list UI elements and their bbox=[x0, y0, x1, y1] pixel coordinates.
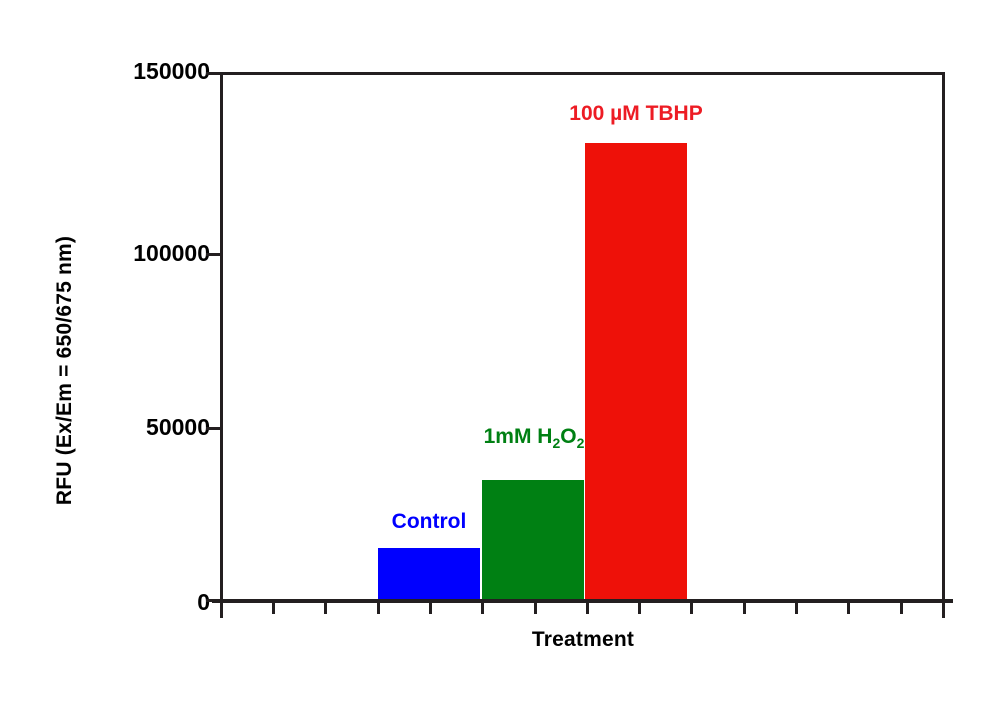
x-axis-title: Treatment bbox=[220, 628, 946, 652]
bar-label-h2o2-mid: O bbox=[560, 425, 576, 448]
x-tick-7 bbox=[586, 603, 589, 614]
y-tick-150000 bbox=[206, 72, 220, 75]
x-tick-8 bbox=[638, 603, 641, 614]
x-tick-2 bbox=[324, 603, 327, 614]
y-tick-label-50000: 50000 bbox=[60, 414, 210, 441]
x-tick-6 bbox=[534, 603, 537, 614]
y-tick-0 bbox=[206, 599, 220, 602]
x-tick-14 bbox=[942, 603, 945, 618]
bar-tbhp bbox=[585, 143, 687, 599]
bar-label-h2o2-sub2: 2 bbox=[577, 435, 585, 451]
bar-label-tbhp: 100 µM TBHP bbox=[536, 102, 736, 126]
x-tick-10 bbox=[743, 603, 746, 614]
x-tick-11 bbox=[795, 603, 798, 614]
axis-frame-top bbox=[220, 72, 945, 75]
axis-frame-right bbox=[942, 72, 945, 602]
y-tick-100000 bbox=[206, 253, 220, 256]
x-tick-1 bbox=[272, 603, 275, 614]
y-tick-50000 bbox=[206, 427, 220, 430]
y-tick-label-150000: 150000 bbox=[60, 58, 210, 85]
plot-area: Control 1mM H2O2 100 µM TBHP bbox=[220, 72, 945, 602]
y-axis-title-text: RFU (Ex/Em = 650/675 nm) bbox=[53, 236, 77, 505]
bar-chart: RFU (Ex/Em = 650/675 nm) 0 50000 100000 … bbox=[0, 0, 1000, 717]
x-tick-3 bbox=[377, 603, 380, 614]
x-tick-5 bbox=[481, 603, 484, 614]
bar-label-h2o2-pre: 1mM H bbox=[484, 425, 553, 448]
bar-control bbox=[378, 548, 480, 599]
x-tick-9 bbox=[690, 603, 693, 614]
x-tick-12 bbox=[847, 603, 850, 614]
x-tick-13 bbox=[900, 603, 903, 614]
bar-label-h2o2: 1mM H2O2 bbox=[448, 425, 620, 449]
y-tick-label-0: 0 bbox=[60, 589, 210, 616]
x-tick-4 bbox=[429, 603, 432, 614]
x-tick-0 bbox=[220, 603, 223, 618]
y-tick-label-100000: 100000 bbox=[60, 240, 210, 267]
bar-label-h2o2-sub1: 2 bbox=[552, 435, 560, 451]
y-axis-line bbox=[220, 72, 223, 602]
bar-label-control: Control bbox=[358, 510, 500, 534]
bar-h2o2 bbox=[482, 480, 584, 599]
